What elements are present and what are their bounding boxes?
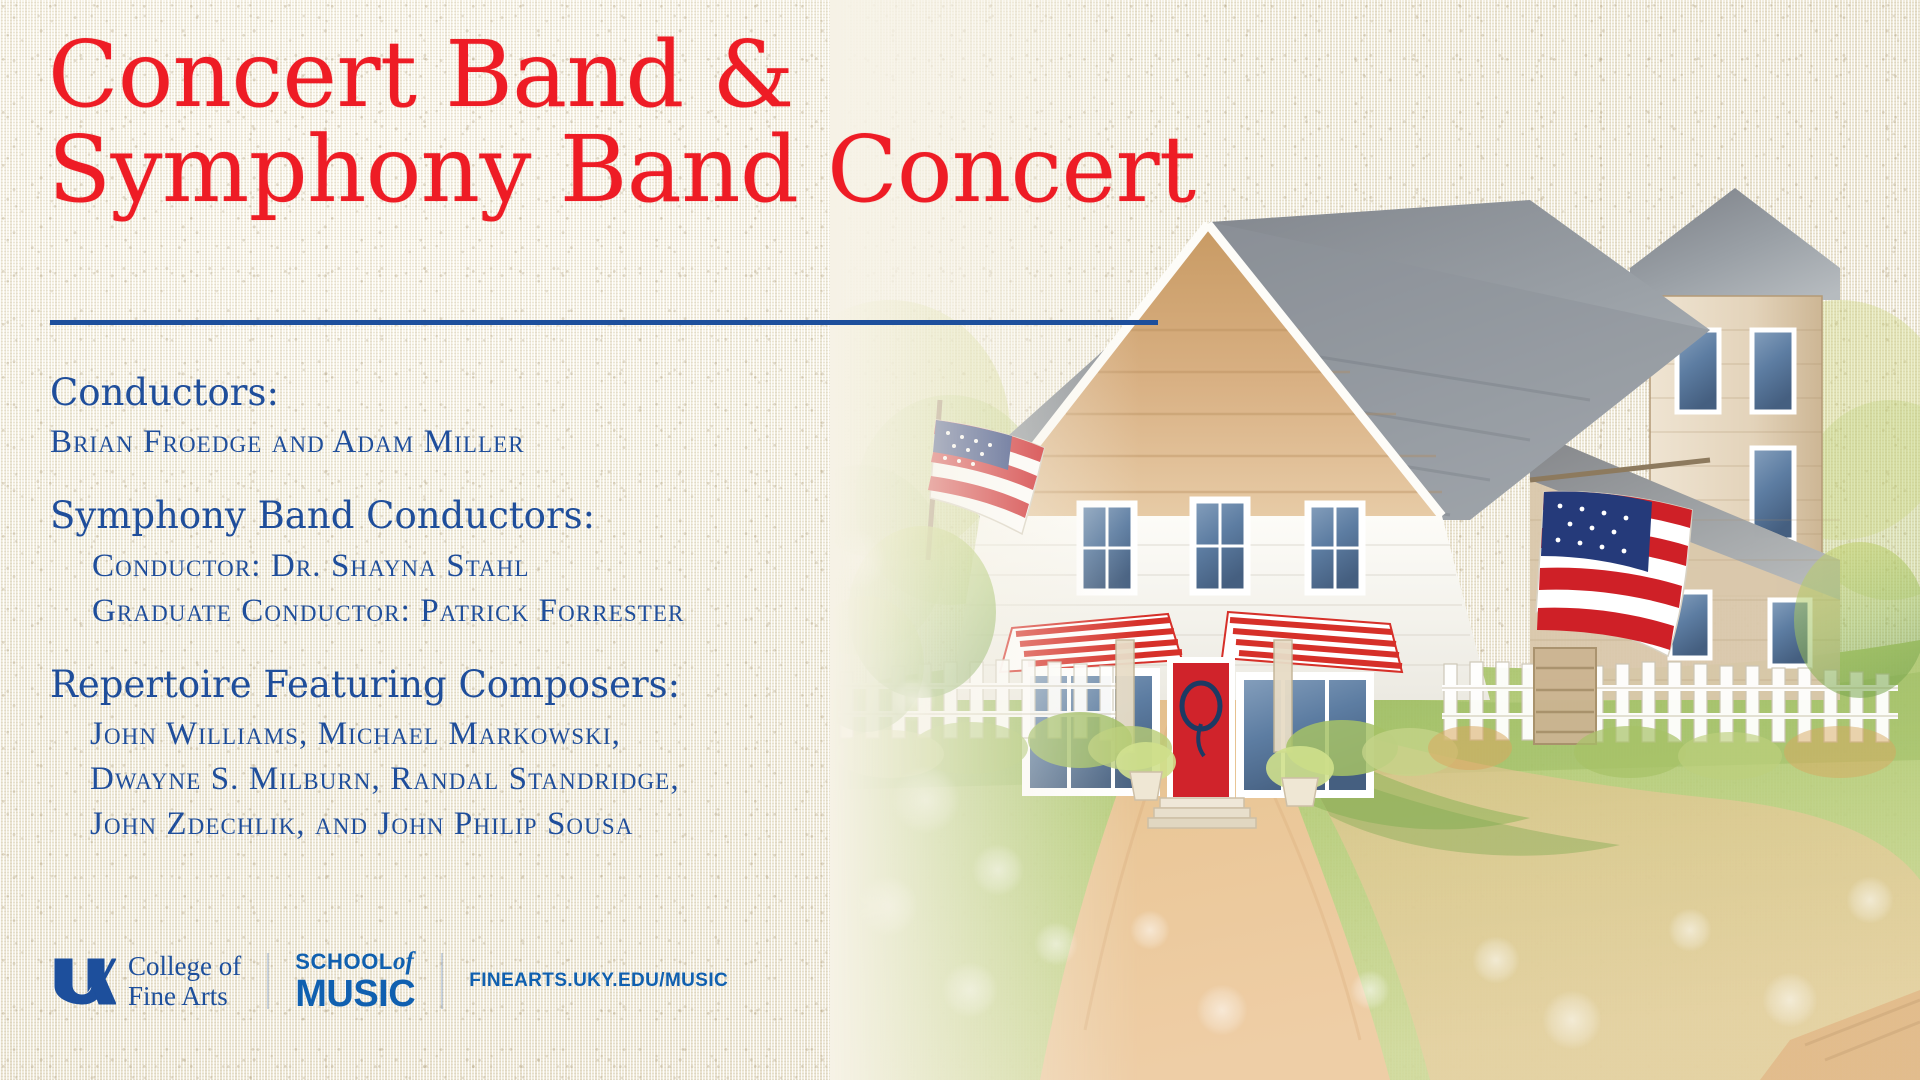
- poster-content: Concert Band & Symphony Band Concert Con…: [0, 0, 1180, 1080]
- repertoire-section: Repertoire Featuring Composers: John Wil…: [50, 664, 1110, 847]
- composers-line-2: Dwayne S. Milburn, Randal Standridge,: [50, 757, 1110, 802]
- title-divider-rule: [50, 320, 1158, 325]
- conductors-section: Conductors: Brian Froedge and Adam Mille…: [50, 372, 1110, 465]
- conductors-heading: Conductors:: [50, 372, 1110, 413]
- school-of-music-row-1: SCHOOLof: [295, 950, 415, 974]
- symphony-band-graduate-conductor: Graduate Conductor: Patrick Forrester: [50, 589, 1110, 634]
- poster-title: Concert Band & Symphony Band Concert: [48, 28, 1178, 218]
- repertoire-heading: Repertoire Featuring Composers:: [50, 664, 1110, 705]
- college-line-2: Fine Arts: [128, 981, 228, 1011]
- college-line-1: College of: [128, 951, 241, 981]
- title-line-1: Concert Band &: [48, 21, 794, 128]
- school-music-word: MUSIC: [295, 976, 415, 1012]
- school-word: SCHOOL: [295, 949, 393, 974]
- logo-divider-2: [441, 953, 443, 1009]
- concert-poster: Concert Band & Symphony Band Concert Con…: [0, 0, 1920, 1080]
- details-block: Conductors: Brian Froedge and Adam Mille…: [50, 372, 1110, 877]
- conductors-names: Brian Froedge and Adam Miller: [50, 420, 1110, 465]
- website-url[interactable]: FINEARTS.UKY.EDU/MUSIC: [469, 970, 728, 992]
- uk-college-of-fine-arts-logo: College of Fine Arts: [52, 951, 241, 1011]
- symphony-band-conductor: Conductor: Dr. Shayna Stahl: [50, 544, 1110, 589]
- logo-divider-1: [267, 953, 269, 1009]
- symphony-band-heading: Symphony Band Conductors:: [50, 495, 1110, 536]
- composers-line-3: John Zdechlik, and John Philip Sousa: [50, 802, 1110, 847]
- college-of-fine-arts-text: College of Fine Arts: [128, 951, 241, 1011]
- title-line-2: Symphony Band Concert: [48, 123, 1178, 218]
- wooden-gate: [1534, 648, 1596, 744]
- school-of-music-logo: SCHOOLof MUSIC: [295, 950, 415, 1012]
- composers-line-1: John Williams, Michael Markowski,: [50, 712, 1110, 757]
- symphony-band-section: Symphony Band Conductors: Conductor: Dr.…: [50, 495, 1110, 633]
- footer-logo-bar: College of Fine Arts SCHOOLof MUSIC FINE…: [52, 948, 728, 1014]
- school-of-word: of: [393, 948, 414, 975]
- title-block: Concert Band & Symphony Band Concert: [48, 28, 1178, 218]
- uk-monogram-icon: [52, 955, 116, 1007]
